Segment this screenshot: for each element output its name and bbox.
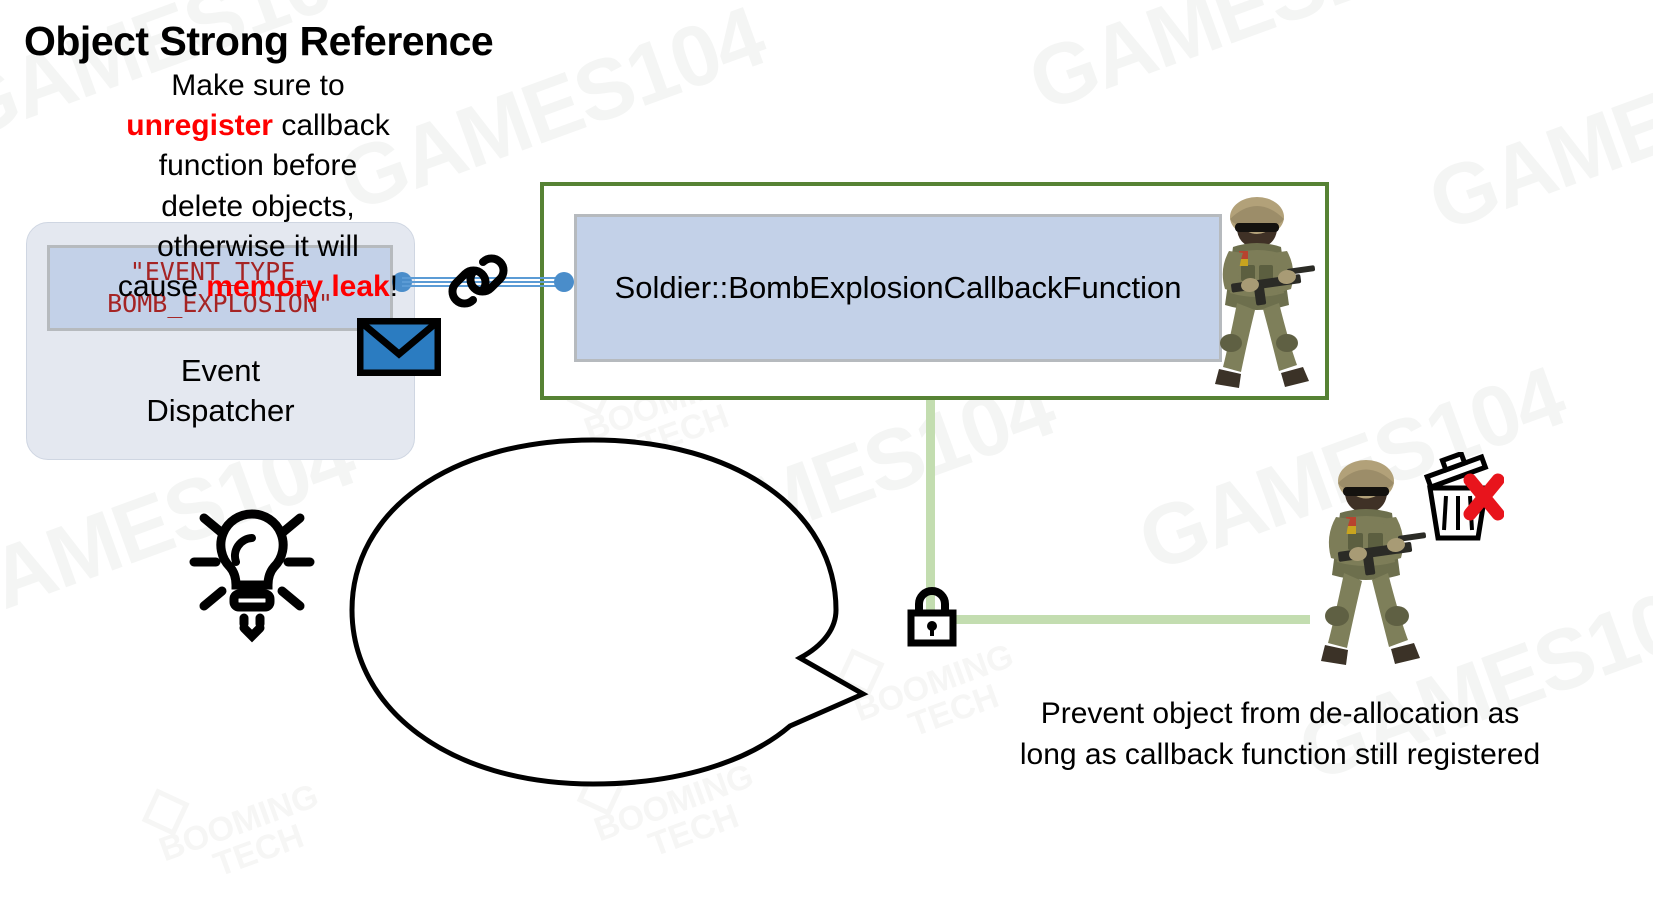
soldier-figure: [1300, 455, 1430, 670]
tip-plain: function before: [159, 149, 357, 182]
tip-emphasis: unregister: [126, 109, 273, 142]
caption-line-1: Prevent object from de-allocation as: [950, 694, 1610, 735]
tip-plain: cause: [118, 270, 206, 303]
tip-line: otherwise it will: [58, 227, 458, 267]
event-dispatcher-label: Event Dispatcher: [27, 351, 414, 430]
connector-endpoint-right: [554, 272, 574, 292]
watermark-games: GAMES104: [1416, 7, 1653, 251]
envelope-icon: [357, 318, 441, 376]
tip-line: function before: [58, 146, 458, 186]
padlock-locked-icon: [905, 585, 959, 647]
tip-line: unregister callback: [58, 106, 458, 146]
trash-can-icon: [1412, 452, 1504, 544]
strong-reference-caption: Prevent object from de-allocation as lon…: [950, 694, 1610, 775]
caption-line-2: long as callback function still register…: [950, 735, 1610, 776]
diamond-icon: [142, 788, 190, 836]
strong-reference-line-horizontal: [930, 615, 1310, 624]
page-title: Object Strong Reference: [24, 18, 493, 65]
callback-function-box: Soldier::BombExplosionCallbackFunction: [574, 214, 1222, 362]
tip-plain: !: [390, 270, 398, 303]
tip-plain: callback: [273, 109, 390, 142]
tip-text: Make sure tounregister callbackfunction …: [58, 66, 458, 307]
tip-emphasis: memory leak: [206, 270, 389, 303]
lightbulb-idea-icon: [168, 478, 336, 646]
tip-speech-bubble: [338, 432, 898, 792]
tip-line: cause memory leak!: [58, 267, 458, 307]
tip-line: Make sure to: [58, 66, 458, 106]
watermark-games: GAMES104: [1016, 0, 1466, 132]
tip-plain: delete objects,: [161, 190, 354, 223]
soldier-figure: [1195, 193, 1325, 393]
tip-plain: Make sure to: [171, 69, 344, 102]
tip-plain: otherwise it will: [157, 230, 359, 263]
tip-line: delete objects,: [58, 187, 458, 227]
callback-function-label: Soldier::BombExplosionCallbackFunction: [615, 270, 1182, 306]
watermark-booming: BOOMINGTECH: [143, 745, 334, 898]
